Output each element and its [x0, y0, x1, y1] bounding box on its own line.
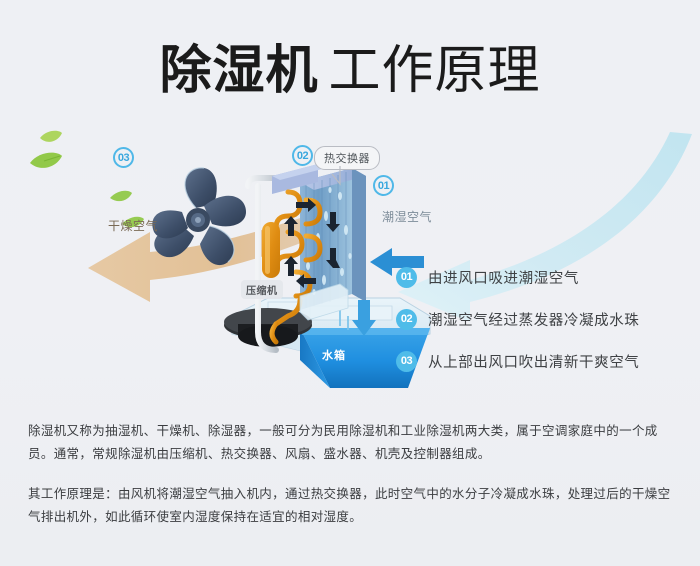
- humid-air-label: 潮湿空气: [382, 208, 432, 225]
- title-secondary: 工作原理: [329, 42, 541, 100]
- diagram-badge-02: 02: [292, 145, 313, 166]
- paragraph-1: 除湿机又称为抽湿机、干燥机、除湿器，一般可分为民用除湿机和工业除湿机两大类，属于…: [28, 420, 676, 466]
- legend-item: 02 潮湿空气经过蒸发器冷凝成水珠: [396, 298, 686, 340]
- legend-item: 01 由进风口吸进潮湿空气: [396, 256, 686, 298]
- legend-badge-02: 02: [396, 309, 417, 330]
- dry-air-label: 干燥空气: [108, 217, 158, 234]
- legend-list: 01 由进风口吸进潮湿空气 02 潮湿空气经过蒸发器冷凝成水珠 03 从上部出风…: [396, 256, 686, 382]
- water-tank-label: 水箱: [322, 347, 346, 363]
- legend-text-01: 由进风口吸进潮湿空气: [428, 267, 579, 288]
- legend-text-03: 从上部出风口吹出清新干爽空气: [428, 351, 639, 372]
- leaf-group: [30, 131, 144, 227]
- legend-badge-03: 03: [396, 351, 417, 372]
- compressor-label: 压缩机: [241, 280, 283, 299]
- legend-item: 03 从上部出风口吹出清新干爽空气: [396, 340, 686, 382]
- body-copy: 除湿机又称为抽湿机、干燥机、除湿器，一般可分为民用除湿机和工业除湿机两大类，属于…: [28, 420, 676, 529]
- legend-badge-01: 01: [396, 267, 417, 288]
- legend-text-02: 潮湿空气经过蒸发器冷凝成水珠: [428, 309, 639, 330]
- title-primary: 除湿机: [159, 42, 318, 100]
- infographic-page: 除湿机工作原理: [0, 0, 700, 566]
- page-title: 除湿机工作原理: [0, 28, 700, 103]
- paragraph-2: 其工作原理是：由风机将潮湿空气抽入机内，通过热交换器，此时空气中的水分子冷凝成水…: [28, 483, 676, 529]
- diagram-badge-03: 03: [113, 147, 134, 168]
- callout-tail-icon: [330, 166, 370, 196]
- diagram-badge-01: 01: [373, 175, 394, 196]
